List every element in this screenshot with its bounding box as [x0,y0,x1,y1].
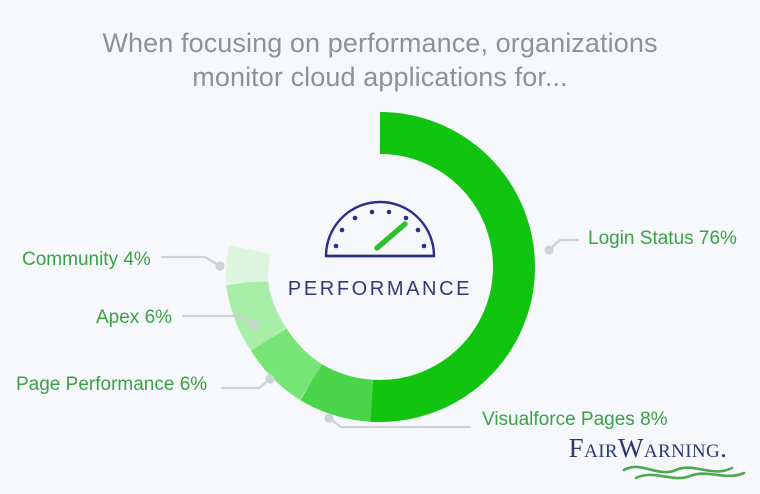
callout-login-status[interactable]: Login Status 76% [588,228,737,250]
donut-center: PERFORMANCE [282,196,478,301]
callout-apex[interactable]: Apex 6% [96,307,172,329]
callout-page-performance[interactable]: Page Performance 6% [16,374,207,396]
donut-slice-apex[interactable] [247,282,269,339]
donut-slice-visualforce-pages[interactable] [311,382,372,401]
donut-center-label: PERFORMANCE [282,278,478,301]
donut-slice-community[interactable] [247,250,250,282]
gauge-icon [282,196,478,264]
leader-dot-login-status [544,245,553,254]
leader-line-login-status [549,240,578,250]
leader-dot-apex [249,320,258,329]
leader-line-page-performance [222,379,270,388]
logo-wordmark: FairWarning. [548,434,748,462]
infographic-canvas: When focusing on performance, organizati… [0,0,760,494]
callout-community[interactable]: Community 4% [22,249,151,271]
leader-dot-community [215,261,224,270]
leader-dot-page-performance [265,374,274,383]
donut-slice-page-performance[interactable] [269,339,311,382]
callout-visualforce-pages[interactable]: Visualforce Pages 8% [482,409,668,431]
fairwarning-logo: FairWarning. [548,434,748,483]
logo-swoosh-icon [548,463,748,483]
leader-line-community [162,257,220,266]
leader-dot-visualforce [324,413,333,422]
